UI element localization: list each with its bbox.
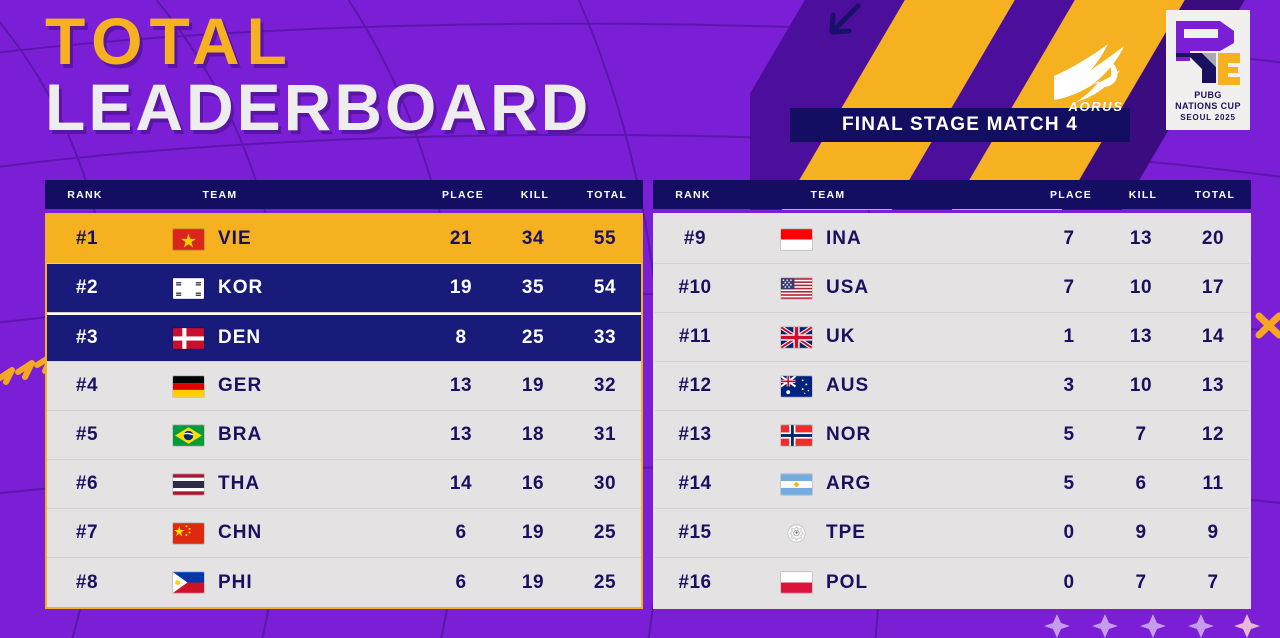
row-team: PHI — [127, 572, 317, 594]
row-kill: 7 — [1105, 572, 1177, 594]
row-total: 7 — [1177, 572, 1249, 594]
row-place: 7 — [1033, 277, 1105, 299]
row-team-name: GER — [218, 375, 262, 397]
row-team-name: KOR — [218, 277, 263, 299]
event-logo: PUBG NATIONS CUP SEOUL 2025 — [1166, 10, 1250, 130]
row-rank: #7 — [47, 522, 127, 544]
usa-flag — [781, 278, 812, 299]
row-kill: 19 — [497, 522, 569, 544]
event-logo-line1: PUBG — [1172, 90, 1244, 101]
chinese-taipei-emblem — [781, 523, 812, 544]
row-team-name: ARG — [826, 473, 871, 495]
germany-flag — [173, 376, 204, 397]
column-header-kill: KILL — [499, 189, 571, 201]
row-place: 1 — [1033, 326, 1105, 348]
row-total: 17 — [1177, 277, 1249, 299]
row-team-name: PHI — [218, 572, 253, 594]
row-total: 12 — [1177, 424, 1249, 446]
row-team-name: TPE — [826, 522, 866, 544]
table-body-right: #9INA71320#10USA71017#11UK11314#12AUS310… — [653, 213, 1251, 609]
row-rank: #13 — [655, 424, 735, 446]
row-team-name: POL — [826, 572, 868, 594]
svg-text:AORUS: AORUS — [1068, 99, 1124, 114]
vietnam-flag — [173, 229, 204, 250]
aorus-logo: AORUS — [1046, 42, 1146, 114]
page-title: TOTAL LEADERBOARD — [45, 10, 591, 142]
row-rank: #5 — [47, 424, 127, 446]
row-team: AUS — [735, 375, 925, 397]
row-place: 5 — [1033, 424, 1105, 446]
row-place: 14 — [425, 473, 497, 495]
row-place: 6 — [425, 522, 497, 544]
china-flag — [173, 523, 204, 544]
sparkle-diamonds — [1035, 612, 1265, 638]
stage-banner-label: FINAL STAGE MATCH 4 — [842, 114, 1078, 136]
row-place: 21 — [425, 228, 497, 250]
row-place: 6 — [425, 572, 497, 594]
table-body-left: #1VIE213455#2KOR193554#3DEN82533#4GER131… — [45, 213, 643, 609]
row-team: DEN — [127, 327, 317, 349]
row-total: 30 — [569, 473, 641, 495]
philippines-flag — [173, 572, 204, 593]
row-team: UK — [735, 326, 925, 348]
x-sparkle-icon — [1252, 308, 1280, 342]
row-place: 0 — [1033, 522, 1105, 544]
row-rank: #16 — [655, 572, 735, 594]
column-header-total: TOTAL — [1179, 189, 1251, 201]
row-team: VIE — [127, 228, 317, 250]
row-total: 25 — [569, 522, 641, 544]
row-place: 8 — [425, 327, 497, 349]
row-team-name: CHN — [218, 522, 262, 544]
poland-flag — [781, 572, 812, 593]
australia-flag — [781, 376, 812, 397]
leaderboard-table-left: RANK TEAM PLACE KILL TOTAL #1VIE213455#2… — [45, 180, 643, 609]
table-row[interactable]: #4GER131932 — [47, 362, 641, 411]
row-team-name: USA — [826, 277, 869, 299]
row-kill: 7 — [1105, 424, 1177, 446]
row-team: NOR — [735, 424, 925, 446]
row-total: 31 — [569, 424, 641, 446]
row-team: GER — [127, 375, 317, 397]
column-header-kill: KILL — [1107, 189, 1179, 201]
row-team: INA — [735, 228, 925, 250]
row-place: 5 — [1033, 473, 1105, 495]
table-row[interactable]: #15TPE099 — [655, 509, 1249, 558]
row-place: 7 — [1033, 228, 1105, 250]
row-kill: 6 — [1105, 473, 1177, 495]
row-kill: 13 — [1105, 228, 1177, 250]
south-korea-flag — [173, 278, 204, 299]
row-team: POL — [735, 572, 925, 594]
row-rank: #3 — [47, 327, 127, 349]
row-kill: 10 — [1105, 277, 1177, 299]
column-header-rank: RANK — [45, 189, 125, 201]
row-kill: 9 — [1105, 522, 1177, 544]
brazil-flag — [173, 425, 204, 446]
row-team-name: NOR — [826, 424, 871, 446]
row-kill: 34 — [497, 228, 569, 250]
column-header-rank: RANK — [653, 189, 733, 201]
row-total: 13 — [1177, 375, 1249, 397]
row-team: BRA — [127, 424, 317, 446]
row-team-name: UK — [826, 326, 855, 348]
united-kingdom-flag — [781, 327, 812, 348]
row-rank: #9 — [655, 228, 735, 250]
row-kill: 25 — [497, 327, 569, 349]
row-total: 20 — [1177, 228, 1249, 250]
row-team: THA — [127, 473, 317, 495]
row-kill: 19 — [497, 572, 569, 594]
table-row[interactable]: #8PHI61925 — [47, 558, 641, 607]
title-line-leaderboard: LEADERBOARD — [45, 72, 591, 142]
table-row[interactable]: #11UK11314 — [655, 313, 1249, 362]
norway-flag — [781, 425, 812, 446]
row-team-name: INA — [826, 228, 862, 250]
row-rank: #4 — [47, 375, 127, 397]
column-header-place: PLACE — [427, 189, 499, 201]
column-header-place: PLACE — [1035, 189, 1107, 201]
row-team-name: DEN — [218, 327, 261, 349]
row-team-name: THA — [218, 473, 260, 495]
row-total: 11 — [1177, 473, 1249, 495]
argentina-flag — [781, 474, 812, 495]
leaderboard-table-right: RANK TEAM PLACE KILL TOTAL #9INA71320#10… — [653, 180, 1251, 609]
row-rank: #15 — [655, 522, 735, 544]
row-rank: #12 — [655, 375, 735, 397]
row-team-name: VIE — [218, 228, 252, 250]
row-rank: #2 — [47, 277, 127, 299]
column-header-total: TOTAL — [571, 189, 643, 201]
row-total: 33 — [569, 327, 641, 349]
row-kill: 35 — [497, 277, 569, 299]
row-team-name: BRA — [218, 424, 262, 446]
row-rank: #6 — [47, 473, 127, 495]
event-logo-line2: NATIONS CUP — [1172, 101, 1244, 112]
table-row[interactable]: #6THA141630 — [47, 460, 641, 509]
row-rank: #1 — [47, 228, 127, 250]
row-rank: #14 — [655, 473, 735, 495]
column-header-team: TEAM — [733, 189, 923, 201]
row-place: 3 — [1033, 375, 1105, 397]
arrow-down-left-icon — [818, 2, 864, 48]
row-team: ARG — [735, 473, 925, 495]
row-team: CHN — [127, 522, 317, 544]
row-place: 0 — [1033, 572, 1105, 594]
table-row[interactable]: #13NOR5712 — [655, 411, 1249, 460]
table-row[interactable]: #2KOR193554 — [47, 264, 641, 313]
row-total: 32 — [569, 375, 641, 397]
column-header-team: TEAM — [125, 189, 315, 201]
row-total: 54 — [569, 277, 641, 299]
table-header-left: RANK TEAM PLACE KILL TOTAL — [45, 180, 643, 209]
row-kill: 13 — [1105, 326, 1177, 348]
table-row[interactable]: #5BRA131831 — [47, 411, 641, 460]
row-place: 19 — [425, 277, 497, 299]
row-team: KOR — [127, 277, 317, 299]
indonesia-flag — [781, 229, 812, 250]
pnc-monogram-icon — [1172, 17, 1244, 87]
row-rank: #11 — [655, 326, 735, 348]
row-kill: 18 — [497, 424, 569, 446]
row-kill: 16 — [497, 473, 569, 495]
denmark-flag — [173, 328, 204, 349]
row-total: 9 — [1177, 522, 1249, 544]
row-place: 13 — [425, 424, 497, 446]
row-kill: 10 — [1105, 375, 1177, 397]
row-kill: 19 — [497, 375, 569, 397]
table-row[interactable]: #7CHN61925 — [47, 509, 641, 558]
title-line-total: TOTAL — [45, 10, 591, 72]
thailand-flag — [173, 474, 204, 495]
table-header-right: RANK TEAM PLACE KILL TOTAL — [653, 180, 1251, 209]
row-team-name: AUS — [826, 375, 869, 397]
row-rank: #10 — [655, 277, 735, 299]
row-team: TPE — [735, 522, 925, 544]
table-row[interactable]: #3DEN82533 — [47, 313, 641, 362]
table-row[interactable]: #1VIE213455 — [47, 215, 641, 264]
table-row[interactable]: #12AUS31013 — [655, 362, 1249, 411]
table-row[interactable]: #9INA71320 — [655, 215, 1249, 264]
table-row[interactable]: #14ARG5611 — [655, 460, 1249, 509]
row-total: 25 — [569, 572, 641, 594]
row-place: 13 — [425, 375, 497, 397]
event-logo-line3: SEOUL 2025 — [1172, 112, 1244, 123]
table-row[interactable]: #16POL077 — [655, 558, 1249, 607]
row-team: USA — [735, 277, 925, 299]
table-row[interactable]: #10USA71017 — [655, 264, 1249, 313]
row-rank: #8 — [47, 572, 127, 594]
row-total: 14 — [1177, 326, 1249, 348]
row-total: 55 — [569, 228, 641, 250]
